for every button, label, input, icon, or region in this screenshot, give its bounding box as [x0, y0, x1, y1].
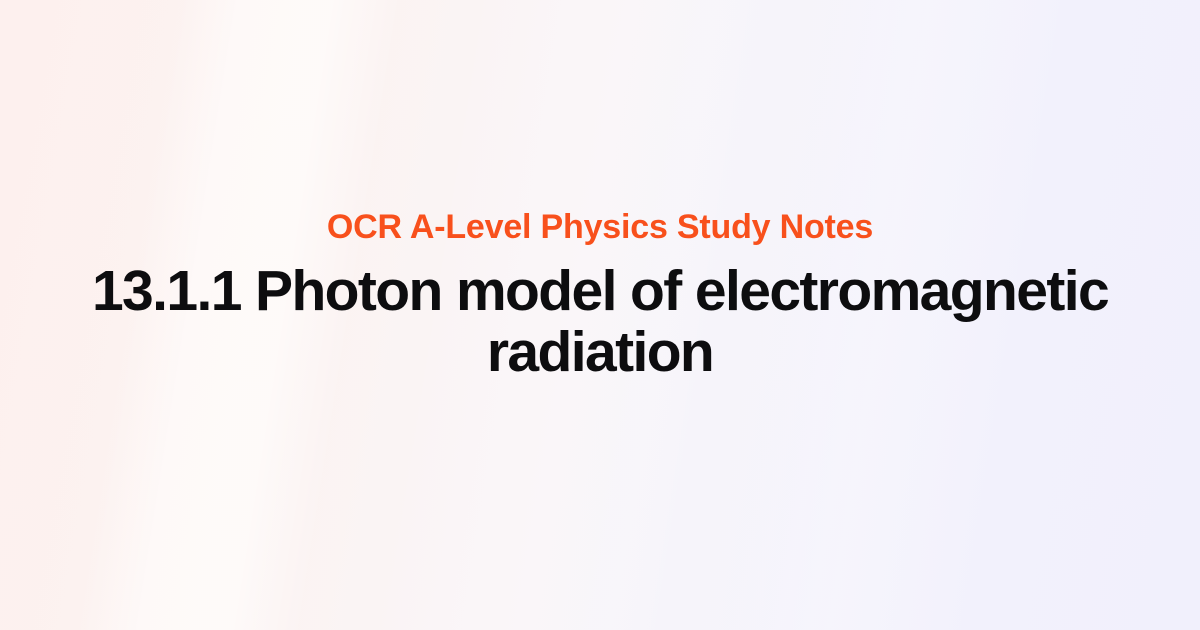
card-content: OCR A-Level Physics Study Notes 13.1.1 P… — [20, 208, 1180, 382]
share-card: OCR A-Level Physics Study Notes 13.1.1 P… — [0, 0, 1200, 630]
course-eyebrow-label: OCR A-Level Physics Study Notes — [20, 208, 1180, 247]
page-title: 13.1.1 Photon model of electromagnetic r… — [20, 261, 1180, 382]
